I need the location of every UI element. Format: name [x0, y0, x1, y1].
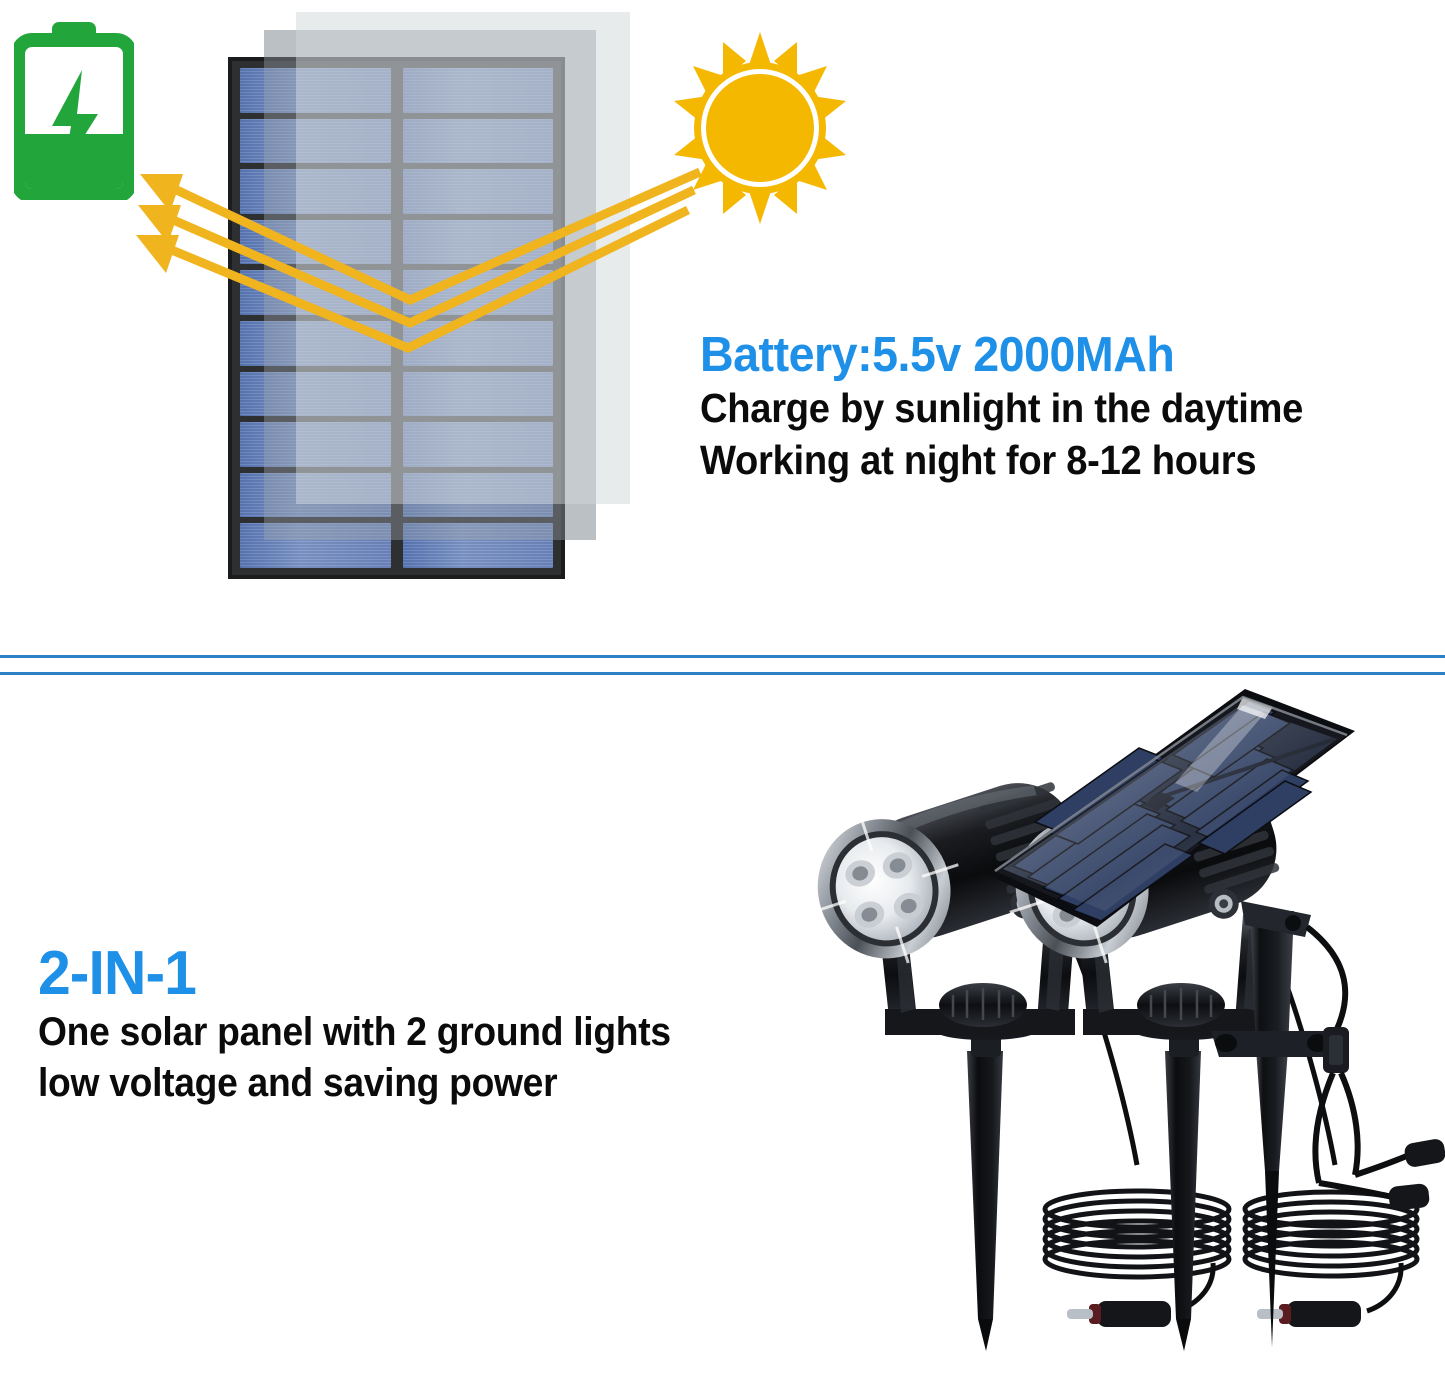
top-line-1: Charge by sunlight in the daytime [700, 382, 1370, 434]
panel-row [240, 523, 553, 568]
bottom-section: 2-IN-1 One solar panel with 2 ground lig… [0, 679, 1445, 1376]
panel-row [240, 473, 553, 518]
section-divider [0, 655, 1445, 679]
dc-jack-female-upper [1355, 1138, 1445, 1175]
panel-cell [240, 523, 391, 568]
infographic-page: .ray { stroke:#F0B41E; stroke-width:9; f… [0, 0, 1445, 1376]
bottom-line-2: low voltage and saving power [38, 1058, 763, 1109]
panel-cell [240, 220, 391, 265]
top-line-2: Working at night for 8-12 hours [700, 434, 1370, 486]
panel-row [240, 270, 553, 315]
panel-cell [240, 422, 391, 467]
bottom-line-1: One solar panel with 2 ground lights [38, 1007, 763, 1058]
top-section: .ray { stroke:#F0B41E; stroke-width:9; f… [0, 0, 1445, 659]
panel-cell [403, 119, 554, 164]
panel-cell [403, 473, 554, 518]
panel-row [240, 169, 553, 214]
panel-row [240, 68, 553, 113]
panel-cell [403, 270, 554, 315]
panel-row [240, 119, 553, 164]
solar-spotlight-kit [745, 679, 1445, 1376]
solar-panel-flat [228, 57, 565, 579]
dc-jack-female-lower [1319, 1183, 1430, 1211]
panel-row [240, 372, 553, 417]
cable-coil-left [1045, 1191, 1229, 1327]
panel-cell [240, 119, 391, 164]
bottom-text-block: 2-IN-1 One solar panel with 2 ground lig… [38, 941, 818, 1109]
panel-cell [240, 68, 391, 113]
battery-charging-icon [14, 22, 134, 200]
panel-cell [403, 372, 554, 417]
divider-line-lower [0, 672, 1445, 675]
panel-cell [403, 422, 554, 467]
panel-cell [403, 220, 554, 265]
ray-arrowhead [140, 174, 183, 212]
panel-cell [240, 270, 391, 315]
sun-icon [660, 28, 860, 228]
battery-headline: Battery:5.5v 2000MAh [700, 330, 1384, 382]
panel-cell [240, 372, 391, 417]
top-text-block: Battery:5.5v 2000MAh Charge by sunlight … [700, 330, 1420, 487]
ray-arrowhead [138, 205, 181, 243]
dc-plug-male-left [1067, 1301, 1171, 1327]
panel-cell [240, 321, 391, 366]
panel-cell [240, 473, 391, 518]
panel-cell [403, 321, 554, 366]
panel-cell [403, 68, 554, 113]
panel-row [240, 220, 553, 265]
two-in-one-headline: 2-IN-1 [38, 941, 779, 1007]
panel-row [240, 422, 553, 467]
panel-cell [240, 169, 391, 214]
ray-arrowhead [136, 235, 179, 273]
panel-row [240, 321, 553, 366]
panel-cell [403, 523, 554, 568]
divider-line-upper [0, 655, 1445, 658]
panel-cell [403, 169, 554, 214]
